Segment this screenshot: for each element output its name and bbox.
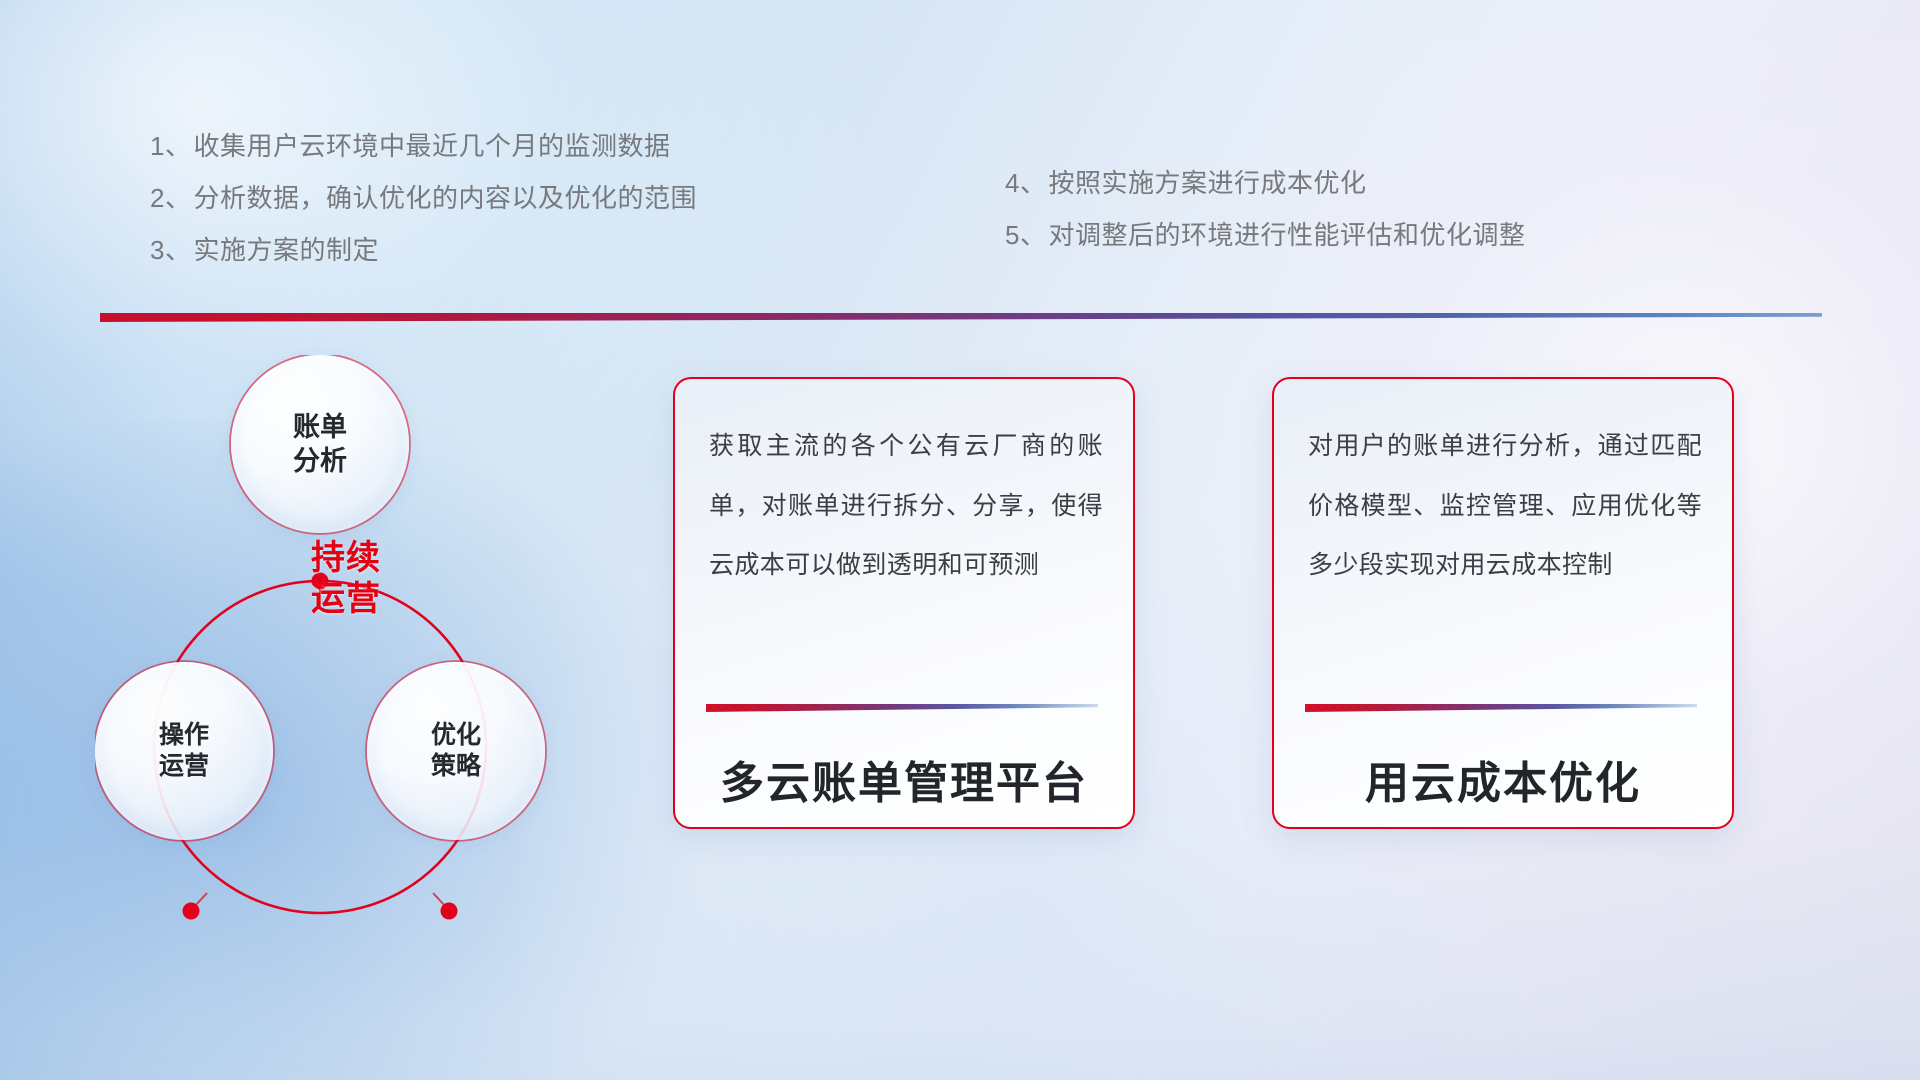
venn-bubble-label-line2: 分析: [293, 446, 347, 476]
step-number: 2、: [150, 185, 191, 211]
step-number: 5、: [1005, 222, 1046, 248]
venn-bubble-label-line1: 账单: [293, 412, 347, 442]
venn-bubble-label-line2: 策略: [431, 752, 481, 780]
card-title: 多云账单管理平台: [675, 747, 1133, 811]
venn-diagram: 账单 分析 操作 运营 优化 策略 持续 运营: [95, 355, 615, 955]
venn-bubble-label: 账单 分析: [293, 410, 347, 478]
card-body-text: 获取主流的各个公有云厂商的账单，对账单进行拆分、分享，使得云成本可以做到透明和可…: [709, 417, 1103, 596]
venn-bubble-bill-analysis[interactable]: 账单 分析: [231, 355, 409, 533]
card-cloud-cost-optimization[interactable]: 对用户的账单进行分析，通过匹配价格模型、监控管理、应用优化等多少段实现对用云成本…: [1272, 377, 1734, 829]
venn-node-dot-right: [441, 903, 458, 920]
steps-right-column: 4、 按照实施方案进行成本优化 5、 对调整后的环境进行性能评估和优化调整: [1005, 157, 1525, 261]
step-text: 对调整后的环境进行性能评估和优化调整: [1048, 222, 1525, 248]
step-number: 3、: [150, 237, 191, 263]
step-item: 1、 收集用户云环境中最近几个月的监测数据: [150, 120, 697, 172]
card-body-text: 对用户的账单进行分析，通过匹配价格模型、监控管理、应用优化等多少段实现对用云成本…: [1308, 417, 1702, 596]
section-divider-rule: [100, 313, 1822, 322]
step-item: 3、 实施方案的制定: [150, 224, 697, 276]
step-text: 收集用户云环境中最近几个月的监测数据: [193, 133, 670, 159]
step-text: 分析数据，确认优化的内容以及优化的范围: [193, 185, 697, 211]
step-number: 4、: [1005, 170, 1046, 196]
card-divider-rule: [1305, 704, 1697, 712]
venn-bubble-optimization-strategy[interactable]: 优化 策略: [367, 662, 545, 840]
card-title: 用云成本优化: [1274, 747, 1732, 811]
step-item: 2、 分析数据，确认优化的内容以及优化的范围: [150, 172, 697, 224]
venn-bubble-label-line1: 操作: [159, 721, 209, 749]
step-text: 按照实施方案进行成本优化: [1048, 170, 1366, 196]
card-multi-cloud-bill-platform[interactable]: 获取主流的各个公有云厂商的账单，对账单进行拆分、分享，使得云成本可以做到透明和可…: [673, 377, 1135, 829]
step-item: 5、 对调整后的环境进行性能评估和优化调整: [1005, 209, 1525, 261]
card-divider-rule: [706, 704, 1098, 712]
slide-canvas: 1、 收集用户云环境中最近几个月的监测数据 2、 分析数据，确认优化的内容以及优…: [0, 0, 1920, 1080]
venn-bubble-label: 操作 运营: [159, 720, 209, 783]
venn-bubble-label-line1: 优化: [431, 721, 481, 749]
divider-gradient-bar: [100, 313, 1822, 322]
step-text: 实施方案的制定: [193, 237, 379, 263]
step-number: 1、: [150, 133, 191, 159]
step-item: 4、 按照实施方案进行成本优化: [1005, 157, 1525, 209]
venn-bubble-operation-management[interactable]: 操作 运营: [95, 662, 273, 840]
venn-node-dot-left: [183, 903, 200, 920]
venn-center-label-line2: 运营: [251, 579, 441, 620]
venn-center-label-line1: 持续: [251, 538, 441, 579]
steps-left-column: 1、 收集用户云环境中最近几个月的监测数据 2、 分析数据，确认优化的内容以及优…: [150, 120, 697, 276]
steps-section: 1、 收集用户云环境中最近几个月的监测数据 2、 分析数据，确认优化的内容以及优…: [0, 0, 1920, 300]
venn-bubble-label: 优化 策略: [431, 720, 481, 783]
venn-bubble-label-line2: 运营: [159, 752, 209, 780]
venn-center-label: 持续 运营: [251, 538, 441, 621]
